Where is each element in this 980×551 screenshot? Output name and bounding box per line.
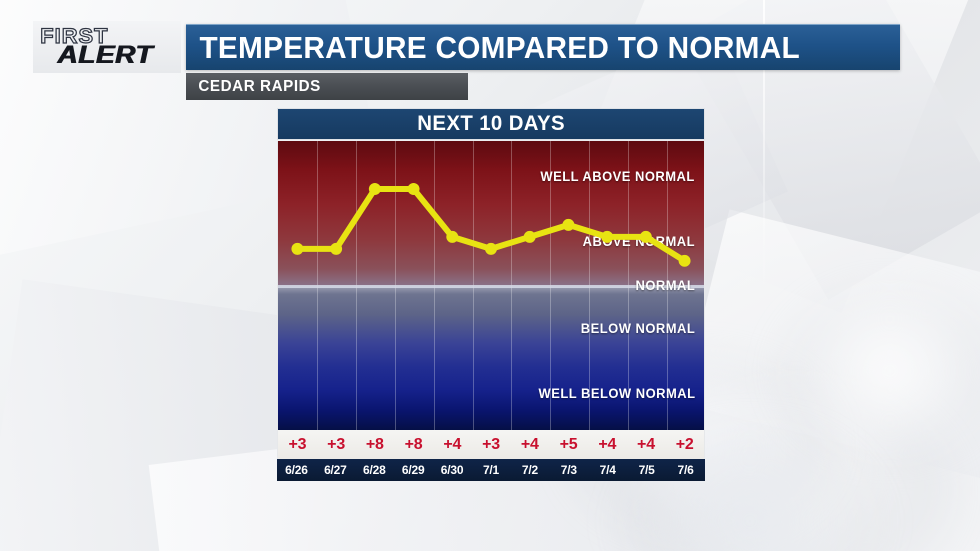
data-point-marker [562,219,574,231]
date-label: 7/2 [510,459,549,481]
date-label: 7/3 [549,459,588,481]
date-label: 7/5 [627,459,666,481]
forecast-chart-panel: NEXT 10 DAYS WELL ABOVE NORMALABOVE NORM… [274,108,708,483]
date-label: 6/29 [394,459,433,481]
date-label: 6/28 [355,459,394,481]
data-point-marker [524,231,536,243]
data-point-marker [291,243,303,255]
date-label: 7/1 [472,459,511,481]
title-bar: TEMPERATURE COMPARED TO NORMAL [186,24,900,70]
data-point-marker [679,255,691,267]
chart-plot-area: WELL ABOVE NORMALABOVE NORMALNORMALBELOW… [277,141,705,430]
logo-alert-text: ALERT [57,44,196,67]
chart-header: NEXT 10 DAYS [277,108,705,140]
data-point-marker [408,183,420,195]
departure-value: +8 [394,430,433,459]
departure-value: +2 [665,430,704,459]
departure-value: +4 [627,430,666,459]
data-point-marker [446,231,458,243]
date-row: 6/266/276/286/296/307/17/27/37/47/57/6 [277,459,705,481]
data-point-marker [640,231,652,243]
date-label: 7/6 [666,459,705,481]
date-label: 6/30 [433,459,472,481]
departure-value: +3 [472,430,511,459]
departure-value: +4 [588,430,627,459]
page-title: TEMPERATURE COMPARED TO NORMAL [186,30,800,66]
departure-value: +4 [510,430,549,459]
departure-value: +8 [355,430,394,459]
temperature-departure-series [278,141,704,429]
data-point-marker [330,243,342,255]
departure-value: +3 [317,430,356,459]
data-point-marker [485,243,497,255]
departure-value: +5 [549,430,588,459]
date-label: 6/27 [316,459,355,481]
data-point-marker [601,231,613,243]
departure-value: +3 [278,430,317,459]
departure-value: +4 [433,430,472,459]
location-label: CEDAR RAPIDS [186,78,321,96]
date-label: 7/4 [588,459,627,481]
chart-header-label: NEXT 10 DAYS [417,112,565,136]
date-label: 6/26 [277,459,316,481]
data-point-marker [369,183,381,195]
location-bar: CEDAR RAPIDS [186,73,468,100]
departure-value-row: +3+3+8+8+4+3+4+5+4+4+2 [277,430,705,459]
first-alert-logo: FIRST ALERT [33,21,181,73]
